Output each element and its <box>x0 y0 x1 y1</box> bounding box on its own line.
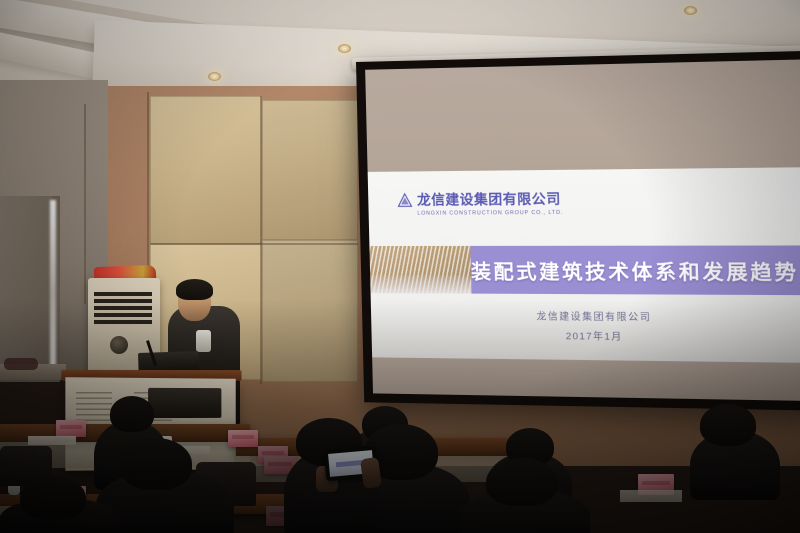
wall-panel <box>262 100 358 240</box>
audience-member-head <box>20 476 86 520</box>
object-on-sill <box>4 358 38 370</box>
air-conditioner-vents <box>94 292 152 326</box>
slide-logo: 龙信建设集团有限公司 LONGXIN CONSTRUCTION GROUP CO… <box>397 191 564 217</box>
table-paper <box>620 490 682 502</box>
slide-subtitle-organization: 龙信建设集团有限公司 <box>371 307 800 325</box>
slide-subtitle-date: 2017年1月 <box>371 327 800 346</box>
audience-member-head <box>120 438 192 490</box>
slide-subtitle-block: 龙信建设集团有限公司 2017年1月 <box>371 307 800 345</box>
window-light-leak <box>50 200 56 372</box>
table-namecard <box>228 430 258 447</box>
slide-logo-company-cn: 龙信建设集团有限公司 <box>417 192 561 208</box>
slide-title-banner: 装配式建筑技术体系和发展趋势 <box>369 245 800 295</box>
projected-slide: 龙信建设集团有限公司 LONGXIN CONSTRUCTION GROUP CO… <box>368 167 800 364</box>
longxin-triangle-logo-icon <box>397 193 412 208</box>
table-namecard <box>56 420 86 437</box>
window-roller-blind[interactable] <box>0 196 52 366</box>
audience-member-head <box>486 458 558 506</box>
wall-seam <box>260 96 262 384</box>
slide-logo-text-group: 龙信建设集团有限公司 LONGXIN CONSTRUCTION GROUP CO… <box>417 191 563 217</box>
slide-banner-photo <box>369 246 471 294</box>
ceiling-downlight <box>684 6 697 15</box>
audience-member-head <box>110 396 154 432</box>
air-conditioner-dial[interactable] <box>110 336 128 354</box>
conference-room-photo: 龙信建设集团有限公司 LONGXIN CONSTRUCTION GROUP CO… <box>0 0 800 533</box>
wall-seam <box>150 243 358 245</box>
presenter-shirt <box>196 330 211 352</box>
presenter-hair <box>176 279 213 300</box>
podium-control-panel[interactable] <box>148 388 221 418</box>
wall-panel <box>262 240 358 382</box>
ceiling-downlight <box>338 44 351 53</box>
projection-screen[interactable]: 龙信建设集团有限公司 LONGXIN CONSTRUCTION GROUP CO… <box>356 50 800 411</box>
screen-surface: 龙信建设集团有限公司 LONGXIN CONSTRUCTION GROUP CO… <box>365 59 800 401</box>
wall-panel <box>150 96 262 244</box>
table-paper <box>28 436 76 445</box>
wall-seam <box>84 104 86 304</box>
ceiling-downlight <box>208 72 221 81</box>
audience-member-head <box>700 404 756 446</box>
slide-title: 装配式建筑技术体系和发展趋势 <box>471 255 800 286</box>
slide-logo-company-en: LONGXIN CONSTRUCTION GROUP CO., LTD. <box>417 210 563 217</box>
